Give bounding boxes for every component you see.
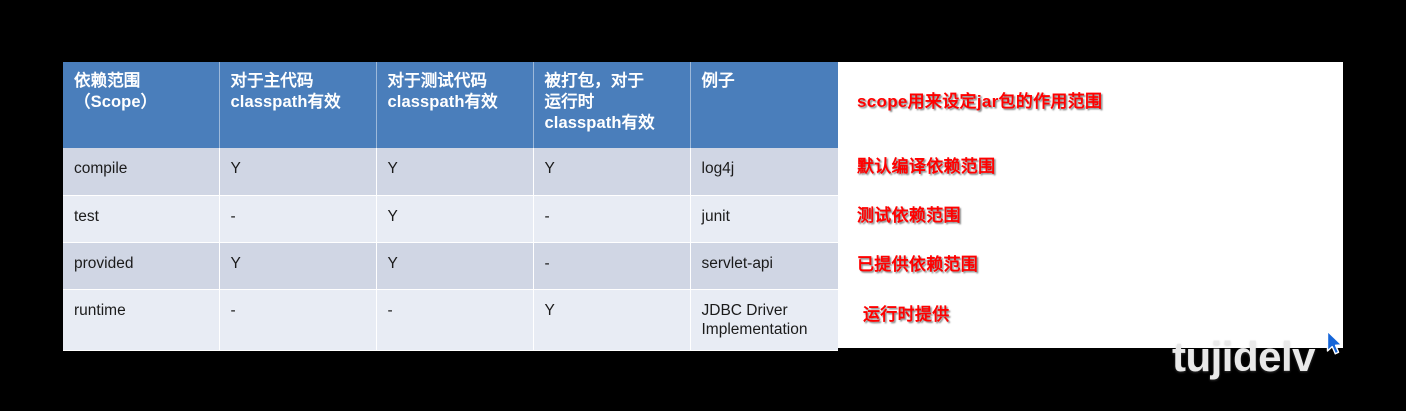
cell-example: JDBC DriverImplementation — [690, 289, 838, 351]
column-header-scope: 依赖范围（Scope） — [63, 62, 219, 148]
cell-test-classpath: Y — [376, 148, 533, 195]
cell-scope: test — [63, 195, 219, 242]
table-header-row: 依赖范围（Scope） 对于主代码classpath有效 对于测试代码class… — [63, 62, 838, 148]
table-row: compile Y Y Y log4j — [63, 148, 838, 195]
cell-example: junit — [690, 195, 838, 242]
slide-surface: 依赖范围（Scope） 对于主代码classpath有效 对于测试代码class… — [63, 62, 1343, 348]
annotation-compile: 默认编译依赖范围 — [857, 152, 995, 177]
cell-example: log4j — [690, 148, 838, 195]
table-body: compile Y Y Y log4j test - Y - junit pro… — [63, 148, 838, 351]
cell-scope: runtime — [63, 289, 219, 351]
annotation-runtime: 运行时提供 — [863, 300, 950, 325]
annotation-test: 测试依赖范围 — [857, 201, 961, 226]
column-header-test-classpath: 对于测试代码classpath有效 — [376, 62, 533, 148]
cell-example: servlet-api — [690, 242, 838, 289]
cell-test-classpath: Y — [376, 242, 533, 289]
table-row: test - Y - junit — [63, 195, 838, 242]
cell-scope: compile — [63, 148, 219, 195]
cell-main-classpath: Y — [219, 242, 376, 289]
dependency-scope-table: 依赖范围（Scope） 对于主代码classpath有效 对于测试代码class… — [63, 62, 838, 351]
cell-runtime-classpath: Y — [533, 289, 690, 351]
mouse-cursor-icon — [1326, 330, 1346, 358]
table-header: 依赖范围（Scope） 对于主代码classpath有效 对于测试代码class… — [63, 62, 838, 148]
cell-runtime-classpath: Y — [533, 148, 690, 195]
column-header-runtime-classpath: 被打包，对于运行时classpath有效 — [533, 62, 690, 148]
table-row: runtime - - Y JDBC DriverImplementation — [63, 289, 838, 351]
cell-runtime-classpath: - — [533, 242, 690, 289]
cell-main-classpath: Y — [219, 148, 376, 195]
cell-runtime-classpath: - — [533, 195, 690, 242]
cell-scope: provided — [63, 242, 219, 289]
column-header-example: 例子 — [690, 62, 838, 148]
cell-main-classpath: - — [219, 195, 376, 242]
cell-test-classpath: - — [376, 289, 533, 351]
cell-test-classpath: Y — [376, 195, 533, 242]
video-frame: 依赖范围（Scope） 对于主代码classpath有效 对于测试代码class… — [0, 0, 1406, 411]
column-header-main-classpath: 对于主代码classpath有效 — [219, 62, 376, 148]
cell-main-classpath: - — [219, 289, 376, 351]
annotation-scope-definition: scope用来设定jar包的作用范围 — [857, 87, 1102, 112]
watermark: tujidelv — [1172, 333, 1315, 381]
annotation-provided: 已提供依赖范围 — [857, 250, 978, 275]
table-row: provided Y Y - servlet-api — [63, 242, 838, 289]
